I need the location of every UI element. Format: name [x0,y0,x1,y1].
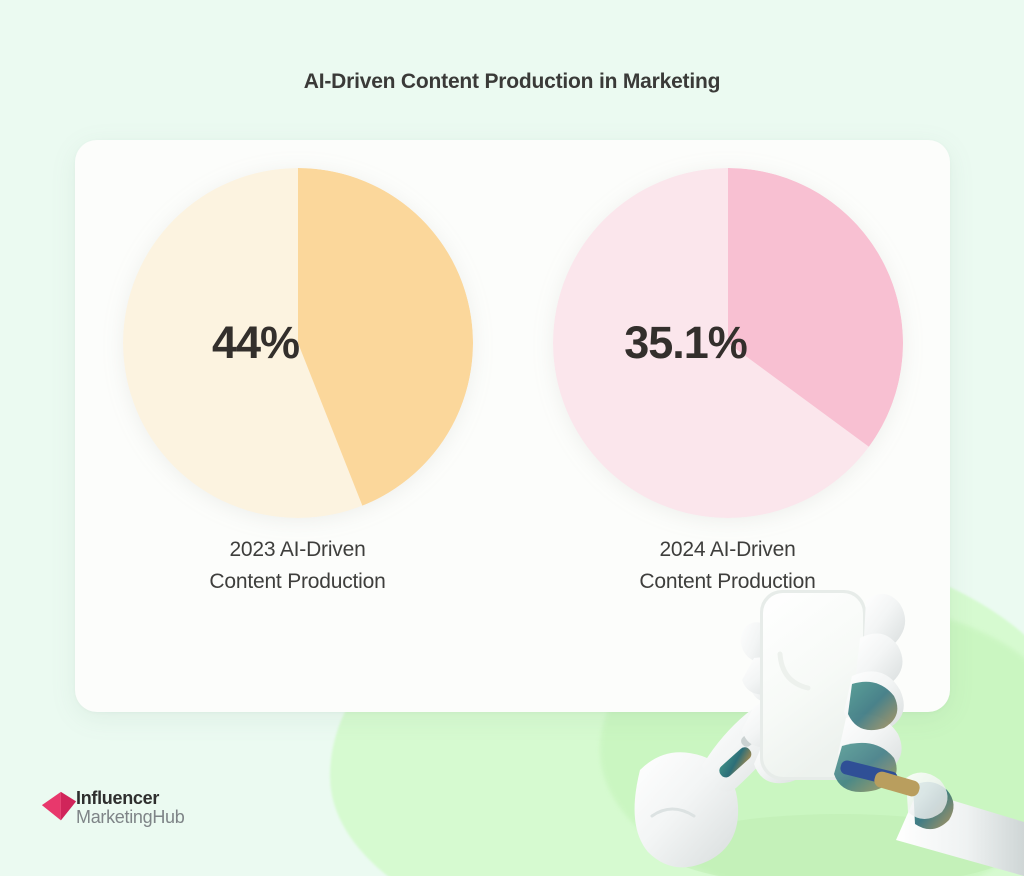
logo-hub-text: Hub [152,807,184,827]
pie-caption-2023: 2023 AI-Driven Content Production [209,534,385,597]
pie-wrap-2023: 44% [123,168,473,518]
pie-graphic-2024 [553,168,903,518]
page-title: AI-Driven Content Production in Marketin… [0,70,1024,94]
logo-line-marketinghub: MarketingHub [76,808,184,827]
logo-text: Influencer MarketingHub [76,789,184,828]
brand-logo[interactable]: Influencer MarketingHub [40,788,184,828]
pie-caption-line1-2024: 2024 AI-Driven [639,534,815,566]
pie-caption-line1-2023: 2023 AI-Driven [209,534,385,566]
pie-chart-2024: 35.1% 2024 AI-Driven Content Production [548,168,908,597]
logo-marketing-text: Marketing [76,807,152,827]
logo-arrow-icon [40,788,78,828]
pie-wrap-2024: 35.1% [553,168,903,518]
pie-chart-2023: 44% 2023 AI-Driven Content Production [118,168,478,597]
charts-row: 44% 2023 AI-Driven Content Production 35… [75,140,950,610]
robot-hands-phone-illustration [630,580,1024,876]
pie-caption-line2-2023: Content Production [209,566,385,598]
robot-illustration-svg [630,580,1024,876]
pie-graphic-2023 [123,168,473,518]
logo-line-influencer: Influencer [76,789,184,808]
